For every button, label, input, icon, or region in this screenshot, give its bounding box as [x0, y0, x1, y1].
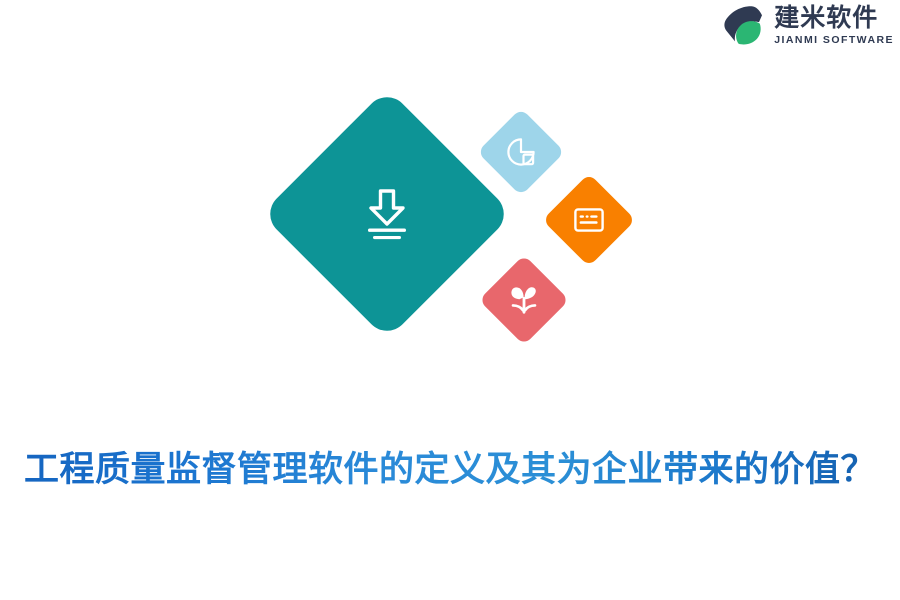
jianmi-logo-mark-icon — [721, 3, 765, 47]
page-title: 工程质量监督管理软件的定义及其为企业带来的价值？ — [24, 447, 876, 493]
id-card-icon — [573, 204, 605, 236]
download-icon — [356, 183, 418, 245]
diamond-download — [261, 88, 513, 340]
hero-illustration — [0, 82, 900, 372]
pie-chart-icon — [506, 137, 536, 167]
article-header-page: 建米软件 JIANMI SOFTWARE — [0, 0, 900, 600]
page-title-container: 工程质量监督管理软件的定义及其为企业带来的价值？ — [0, 424, 900, 516]
diamond-cluster — [260, 82, 640, 362]
diamond-card — [542, 173, 635, 266]
brand-text: 建米软件 JIANMI SOFTWARE — [774, 5, 894, 46]
diamond-analytics — [477, 108, 565, 196]
brand-logo[interactable]: 建米软件 JIANMI SOFTWARE — [721, 0, 894, 50]
diamond-growth — [479, 255, 570, 346]
sprout-icon — [508, 284, 540, 316]
brand-name-cn: 建米软件 — [774, 5, 894, 30]
brand-name-en: JIANMI SOFTWARE — [774, 35, 894, 46]
